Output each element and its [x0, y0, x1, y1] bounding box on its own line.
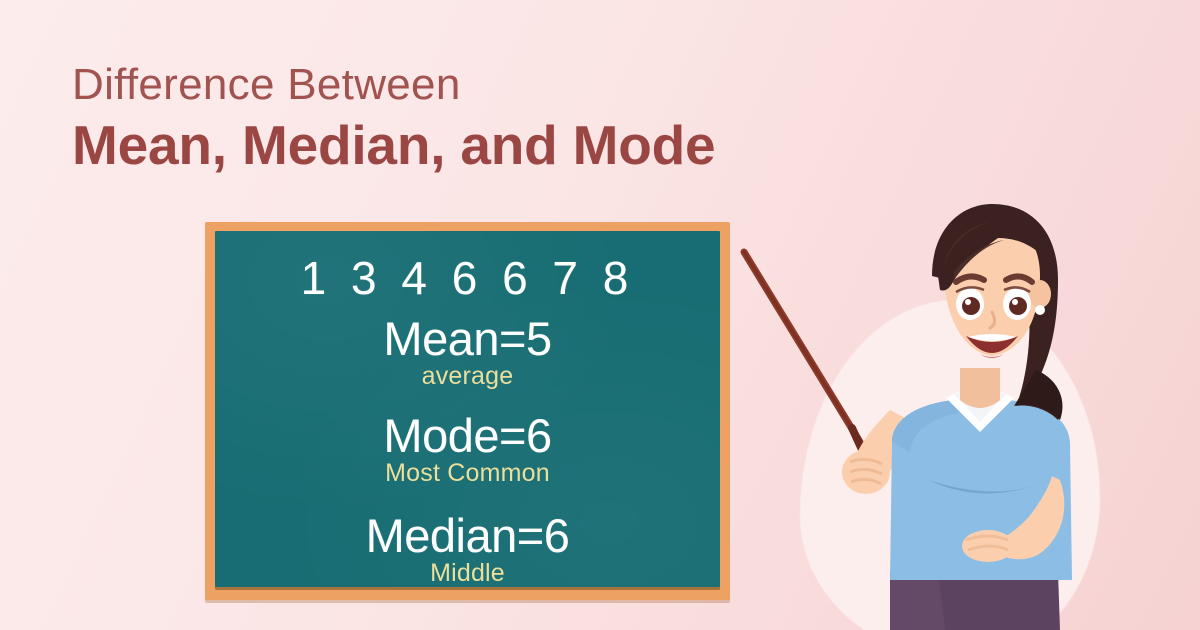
infographic-poster: Difference Between Mean, Median, and Mod… [0, 0, 1200, 630]
median-formula: Median=6 [366, 512, 570, 561]
mean-caption: average [422, 363, 514, 391]
teacher-figure-icon [740, 180, 1200, 630]
eye-left [956, 288, 984, 320]
blackboard-content: 1 3 4 6 6 7 8 Mean=5 average Mode=6 Most… [215, 231, 720, 587]
stat-block-median: Median=6 Middle [366, 512, 570, 587]
blackboard-frame: 1 3 4 6 6 7 8 Mean=5 average Mode=6 Most… [205, 222, 730, 600]
blackboard-surface: 1 3 4 6 6 7 8 Mean=5 average Mode=6 Most… [215, 231, 720, 587]
mode-caption: Most Common [385, 460, 550, 488]
earring-icon [1035, 305, 1045, 315]
stat-block-mean: Mean=5 average [383, 315, 551, 390]
title-mainline: Mean, Median, and Mode [72, 115, 892, 177]
median-caption: Middle [430, 560, 505, 587]
gripping-hand [842, 450, 890, 494]
stat-block-mode: Mode=6 Most Common [383, 412, 551, 487]
mode-formula: Mode=6 [383, 412, 551, 461]
mean-formula: Mean=5 [383, 315, 551, 364]
pointer-stick-icon [744, 252, 876, 480]
neck [960, 368, 1000, 408]
page-title: Difference Between Mean, Median, and Mod… [72, 62, 892, 176]
title-subline: Difference Between [72, 62, 892, 109]
eye-right [1003, 288, 1031, 320]
number-sequence: 1 3 4 6 6 7 8 [301, 255, 635, 301]
